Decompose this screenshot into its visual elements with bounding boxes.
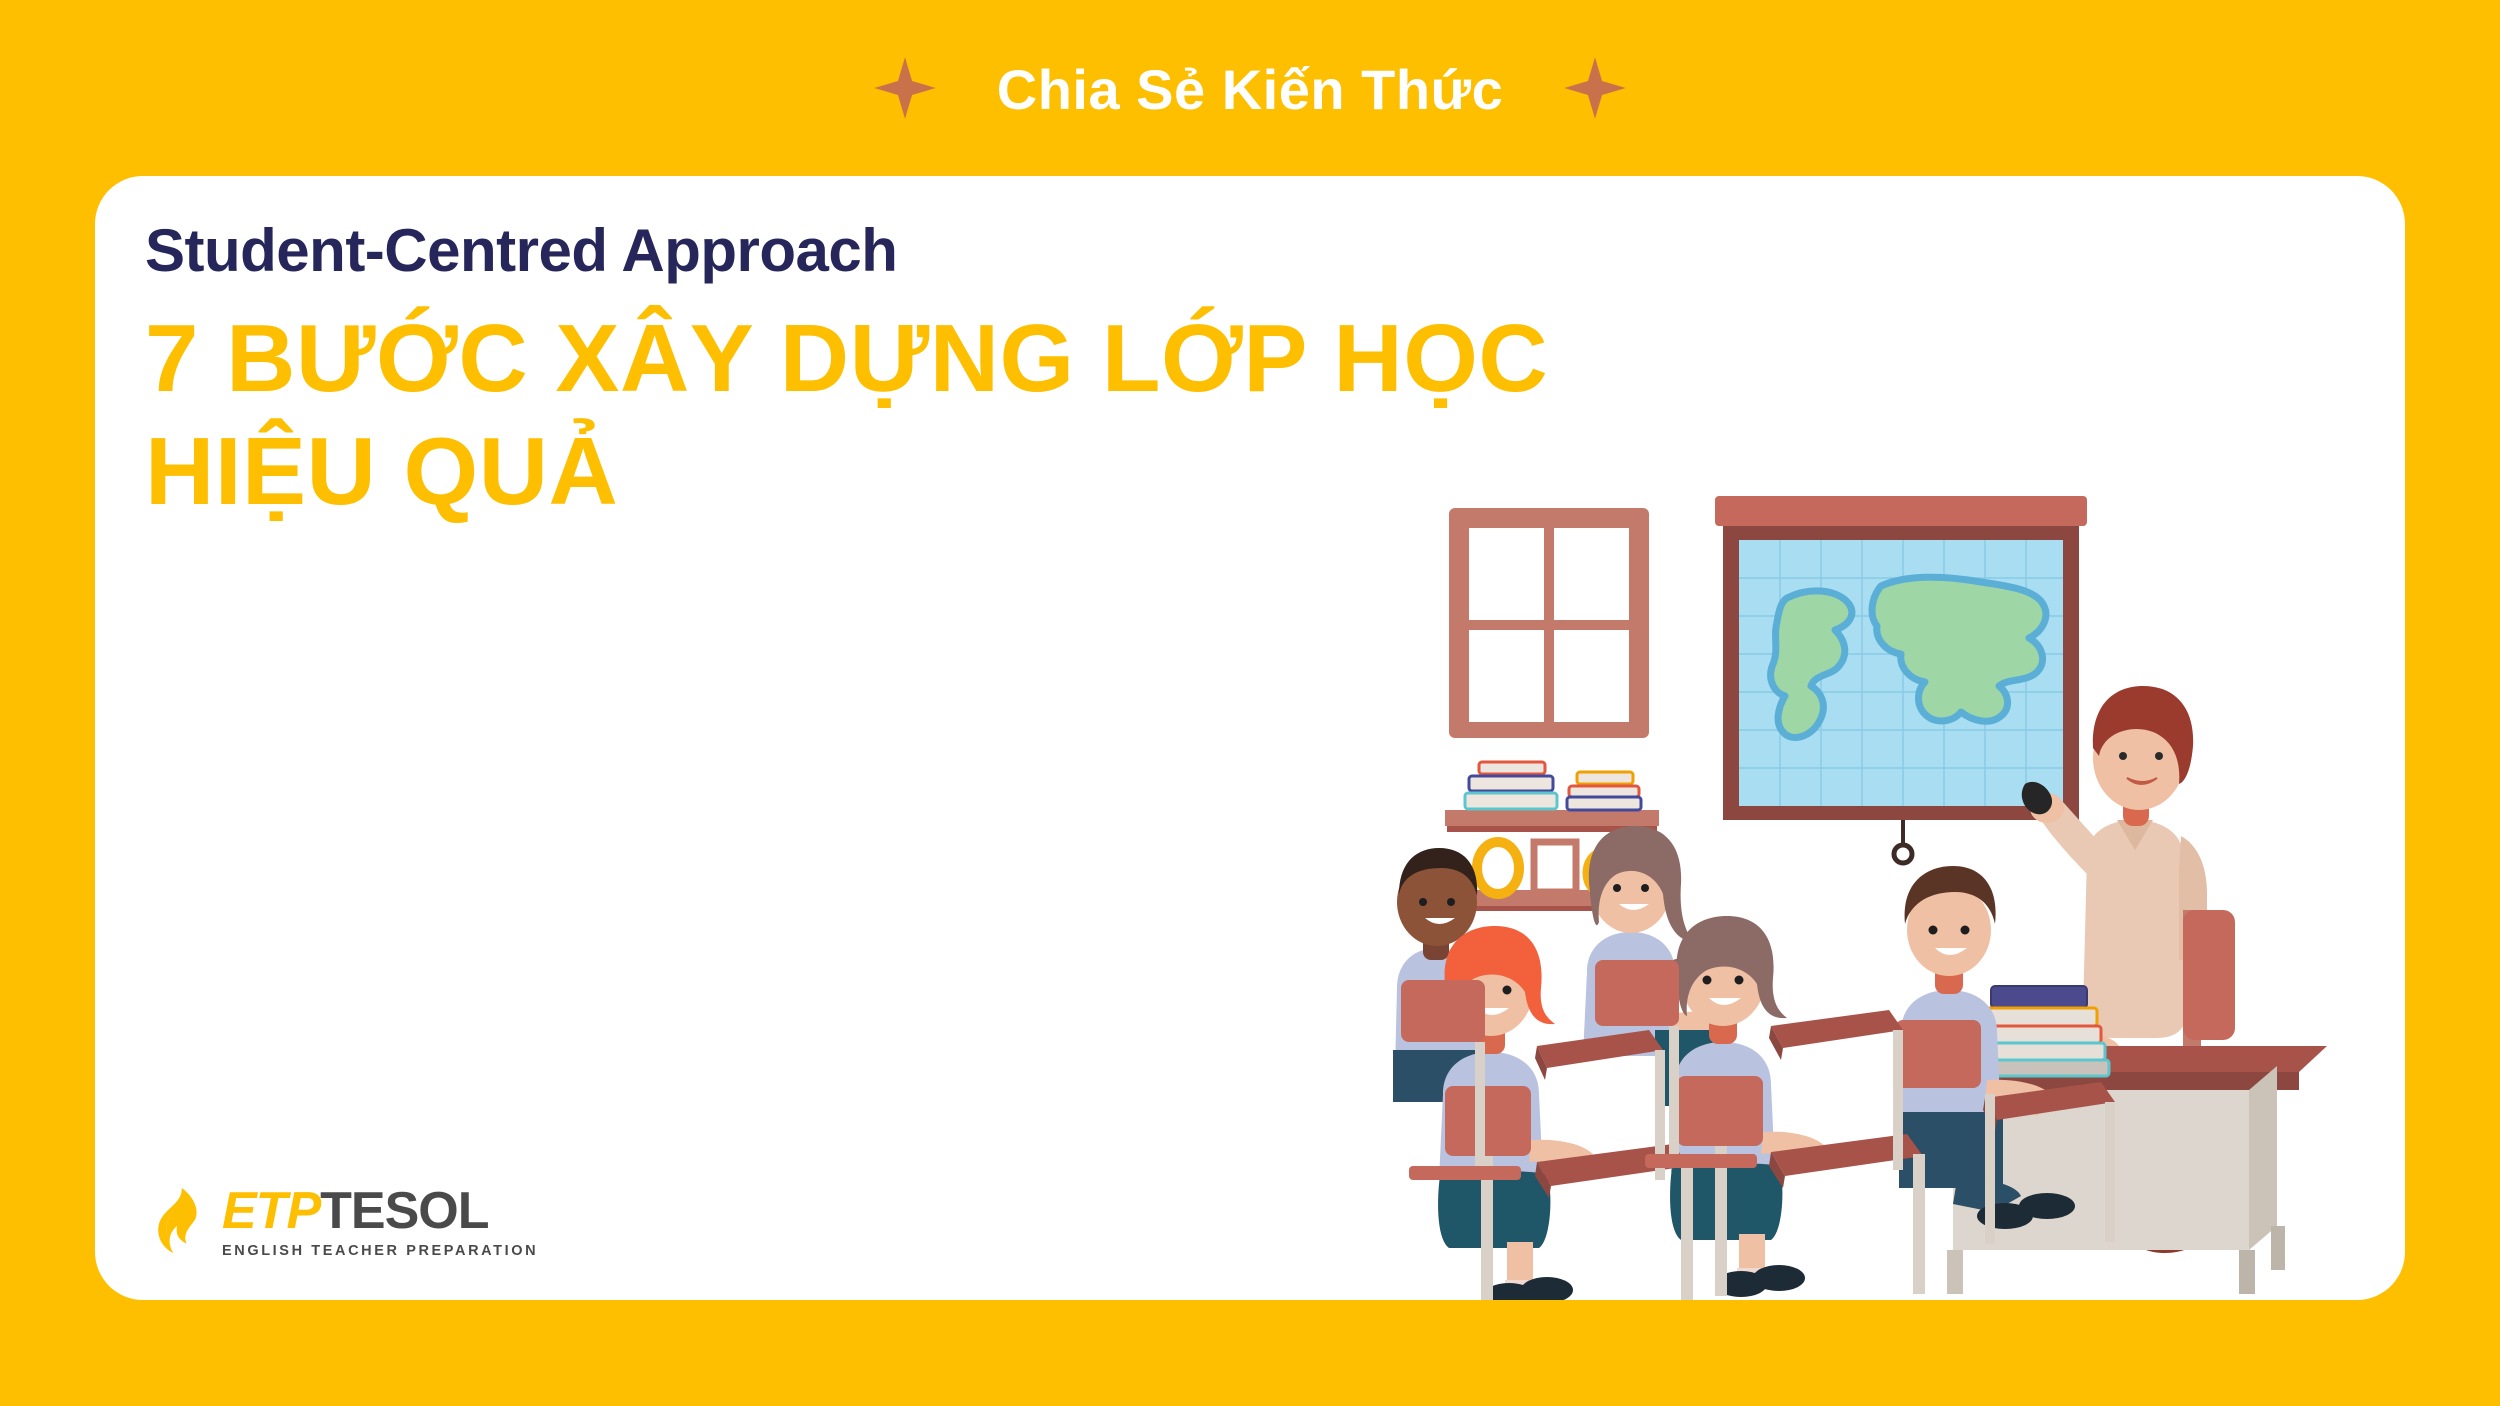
- four-point-star-icon-right: [1563, 56, 1627, 120]
- flame-icon: [150, 1187, 208, 1255]
- four-point-star-icon-left: [873, 56, 937, 120]
- bookshelf-upper: [1445, 762, 1659, 832]
- logo-main-text: ETP TESOL: [222, 1185, 538, 1237]
- logo-wordmark: ETP TESOL ENGLISH TEACHER PREPARATION: [222, 1185, 538, 1259]
- headline-block: Student-Centred Approach 7 BƯỚC XÂY DỰNG…: [145, 218, 1645, 529]
- header-title: Chia Sẻ Kiến Thức: [997, 62, 1503, 118]
- brand-logo: ETP TESOL ENGLISH TEACHER PREPARATION: [150, 1185, 538, 1259]
- banner-header: Chia Sẻ Kiến Thức: [0, 0, 2500, 176]
- logo-etp-text: ETP: [222, 1185, 320, 1237]
- classroom-illustration: [1387, 490, 2387, 1300]
- logo-tagline: ENGLISH TEACHER PREPARATION: [222, 1244, 538, 1259]
- logo-tesol-text: TESOL: [320, 1185, 488, 1237]
- headline-line-1: 7 BƯỚC XÂY DỰNG LỚP HỌC: [145, 302, 1645, 415]
- content-card: Student-Centred Approach 7 BƯỚC XÂY DỰNG…: [95, 176, 2405, 1300]
- eyebrow-text: Student-Centred Approach: [145, 218, 1645, 284]
- window-graphic: [1449, 508, 1649, 738]
